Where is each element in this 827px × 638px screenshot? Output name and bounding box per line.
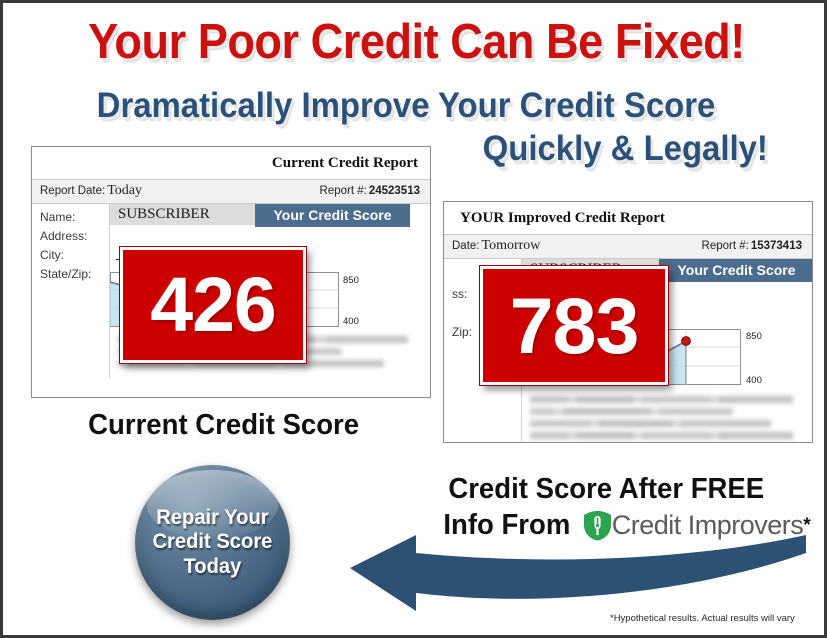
- current-score-caption: Current Credit Score: [88, 409, 359, 442]
- improved-axis-bottom-label: 400: [746, 375, 762, 386]
- advertisement-canvas: Your Poor Credit Can Be Fixed! Dramatica…: [0, 0, 827, 638]
- badge-line-1: Repair Your: [153, 506, 273, 530]
- current-axis-top-label: 850: [343, 275, 359, 286]
- current-score-header: Your Credit Score: [255, 204, 410, 227]
- headline: Your Poor Credit Can Be Fixed!: [36, 17, 797, 68]
- after-free-caption-line-1: Credit Score After FREE: [448, 473, 764, 506]
- current-report-date-label: Report Date:: [40, 185, 105, 197]
- improved-report-title: YOUR Improved Credit Report: [444, 202, 812, 234]
- badge-text: Repair Your Credit Score Today: [153, 506, 273, 579]
- current-axis-bottom-label: 400: [343, 316, 359, 327]
- current-report-meta-row: Report Date: Today Report #: 24523513: [32, 179, 430, 204]
- current-big-score: 426: [120, 247, 306, 363]
- improved-big-score: 783: [480, 266, 668, 385]
- blurred-line: [530, 420, 804, 427]
- curved-arrow-icon: [298, 531, 808, 613]
- improved-report-blurred-text: [522, 387, 813, 443]
- current-report-number-value: 24523513: [369, 185, 420, 197]
- current-field-statezip: State/Zip:: [40, 265, 109, 284]
- current-report-field-labels: Name: Address: City: State/Zip:: [32, 204, 110, 378]
- improved-report-date-label: Date:: [452, 240, 480, 252]
- blurred-line: [530, 408, 804, 415]
- subheadline-line-1: Dramatically Improve Your Credit Score: [27, 85, 785, 128]
- current-field-city: City:: [40, 246, 109, 265]
- current-report-number-label: Report #:: [320, 185, 367, 197]
- disclaimer-text: *Hypothetical results. Actual results wi…: [610, 613, 795, 624]
- improved-axis-top-label: 850: [746, 331, 762, 342]
- improved-report-meta-row: Date: Tomorrow Report #: 15373413: [444, 234, 812, 259]
- improved-score-header: Your Credit Score: [659, 259, 813, 282]
- improved-report-date-value: Tomorrow: [482, 238, 541, 254]
- current-subscriber-name: SUBSCRIBER: [110, 204, 255, 225]
- current-field-name: Name:: [40, 208, 109, 227]
- repair-credit-badge[interactable]: Repair Your Credit Score Today: [135, 465, 290, 620]
- current-report-date-value: Today: [107, 183, 142, 199]
- improved-report-number-label: Report #:: [702, 240, 749, 252]
- badge-line-3: Today: [153, 555, 273, 579]
- badge-line-2: Credit Score: [153, 530, 273, 554]
- blurred-line: [530, 396, 804, 403]
- blurred-line: [530, 432, 804, 439]
- improved-report-number-value: 15373413: [751, 240, 802, 252]
- current-field-address: Address:: [40, 227, 109, 246]
- current-report-title: Current Credit Report: [32, 147, 430, 179]
